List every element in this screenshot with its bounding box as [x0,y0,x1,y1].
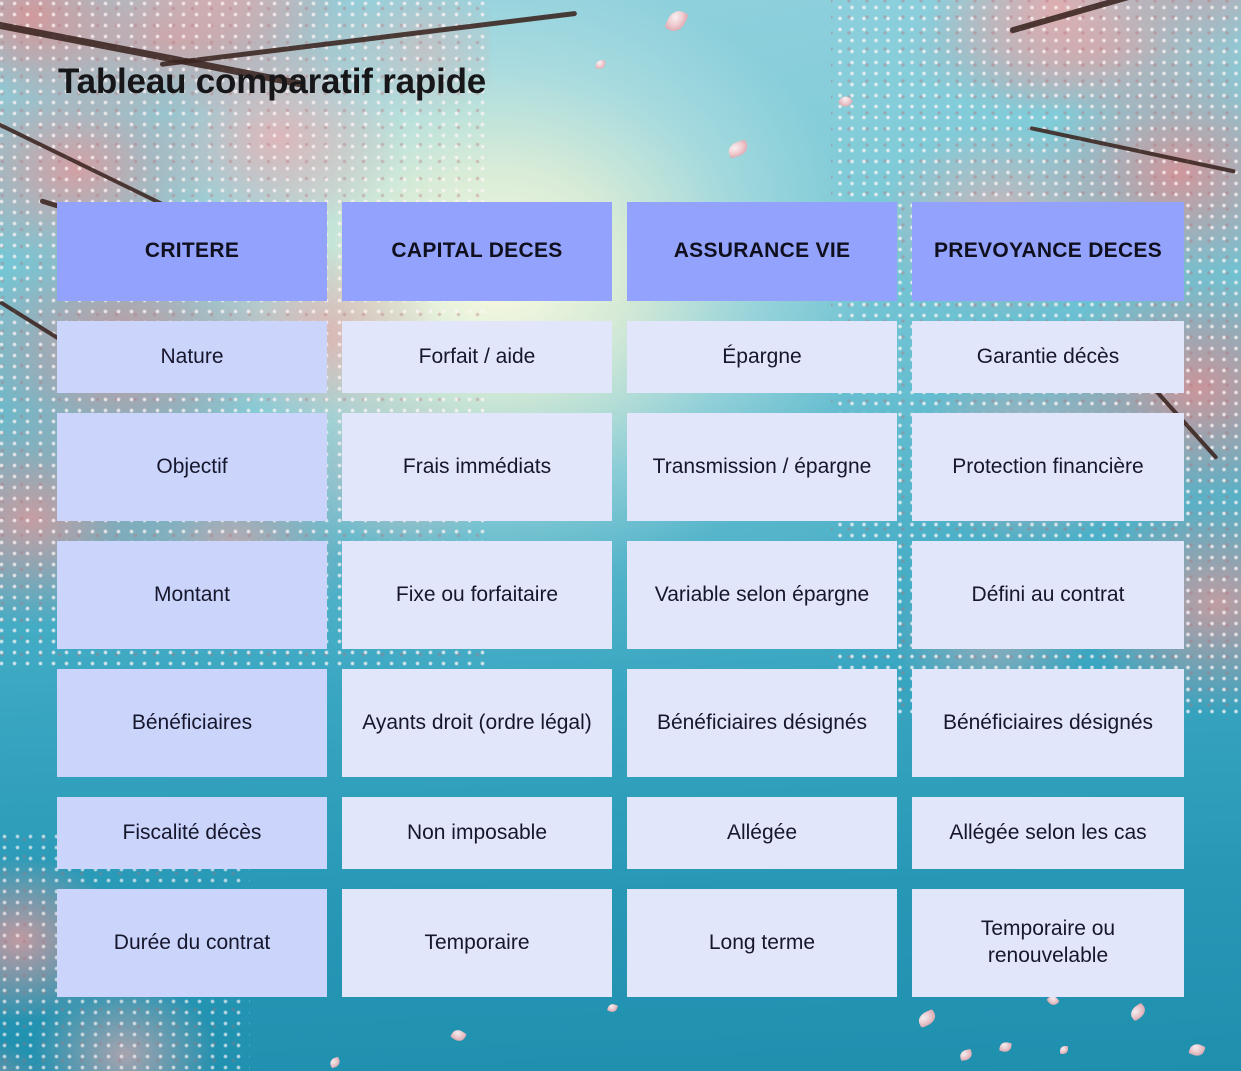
cell-prevoyance-deces: Défini au contrat [912,541,1184,649]
cell-criteria: Durée du contrat [57,889,327,997]
cell-capital-deces: Ayants droit (ordre légal) [342,669,612,777]
cell-assurance-vie: Bénéficiaires désignés [627,669,897,777]
cell-capital-deces: Forfait / aide [342,321,612,393]
cell-prevoyance-deces: Protection financière [912,413,1184,521]
cell-criteria: Bénéficiaires [57,669,327,777]
cell-criteria: Nature [57,321,327,393]
table-row: Bénéficiaires Ayants droit (ordre légal)… [57,669,1184,777]
column-header-prevoyance-deces: PREVOYANCE DECES [912,202,1184,301]
cell-criteria: Montant [57,541,327,649]
cell-capital-deces: Temporaire [342,889,612,997]
table-row: Durée du contrat Temporaire Long terme T… [57,889,1184,997]
cell-assurance-vie: Variable selon épargne [627,541,897,649]
table-row: Montant Fixe ou forfaitaire Variable sel… [57,541,1184,649]
cell-criteria: Objectif [57,413,327,521]
cell-capital-deces: Non imposable [342,797,612,869]
cell-assurance-vie: Transmission / épargne [627,413,897,521]
cell-assurance-vie: Allégée [627,797,897,869]
comparison-table: CRITERE CAPITAL DECES ASSURANCE VIE PREV… [57,202,1184,997]
cell-assurance-vie: Épargne [627,321,897,393]
cell-prevoyance-deces: Temporaire ou renouvelable [912,889,1184,997]
cell-capital-deces: Frais immédiats [342,413,612,521]
cell-prevoyance-deces: Bénéficiaires désignés [912,669,1184,777]
column-header-assurance-vie: ASSURANCE VIE [627,202,897,301]
column-header-capital-deces: CAPITAL DECES [342,202,612,301]
cell-assurance-vie: Long terme [627,889,897,997]
cell-prevoyance-deces: Allégée selon les cas [912,797,1184,869]
table-row: Nature Forfait / aide Épargne Garantie d… [57,321,1184,393]
table-row: Objectif Frais immédiats Transmission / … [57,413,1184,521]
slide-content: Tableau comparatif rapide CRITERE CAPITA… [0,0,1241,1071]
cell-criteria: Fiscalité décès [57,797,327,869]
table-row: Fiscalité décès Non imposable Allégée Al… [57,797,1184,869]
page-title: Tableau comparatif rapide [58,62,486,102]
column-header-critere: CRITERE [57,202,327,301]
cell-capital-deces: Fixe ou forfaitaire [342,541,612,649]
table-header-row: CRITERE CAPITAL DECES ASSURANCE VIE PREV… [57,202,1184,301]
cell-prevoyance-deces: Garantie décès [912,321,1184,393]
